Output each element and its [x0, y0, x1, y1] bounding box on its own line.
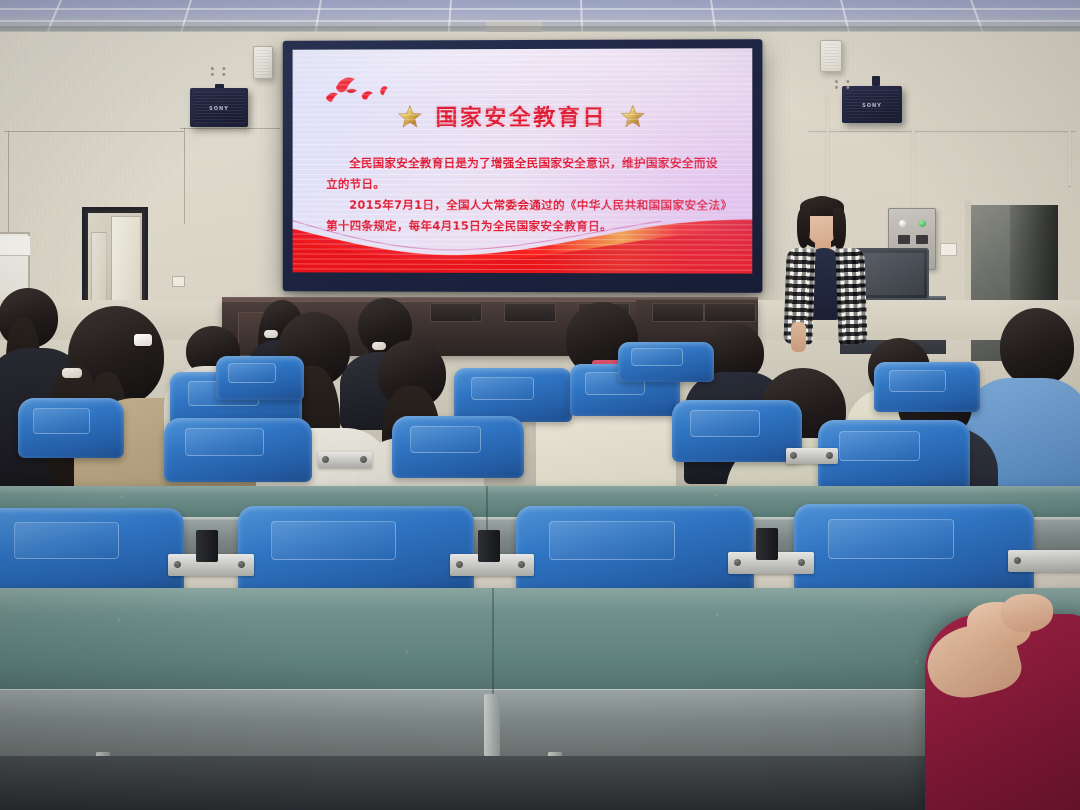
chair-bracket-b2 [786, 448, 838, 464]
chair-c4[interactable] [794, 504, 1034, 598]
chair-c2[interactable] [238, 506, 474, 598]
desk-leg-1 [484, 694, 500, 756]
chair-post-c3 [756, 528, 778, 560]
chair-b1[interactable] [18, 398, 124, 458]
chair-a6[interactable] [618, 342, 714, 382]
chair-b4[interactable] [672, 400, 802, 462]
chair-c3[interactable] [516, 506, 754, 598]
foreground-hand-right [1001, 594, 1053, 632]
chair-b3[interactable] [392, 416, 524, 478]
chair-bracket-c4 [1008, 550, 1080, 572]
chair-c1[interactable] [0, 508, 184, 596]
student-back-mid-hairtie [372, 342, 386, 350]
chair-a5[interactable] [216, 356, 304, 400]
student-tan-hairtie [62, 368, 82, 378]
student-back-left-hairtie [264, 330, 278, 338]
chair-b2[interactable] [164, 418, 312, 482]
foreground-person-maroon [905, 588, 1080, 810]
chair-post-c2 [478, 530, 500, 562]
hair-clip-icon [134, 334, 152, 346]
chair-bracket-b1 [318, 452, 372, 468]
chair-post-c1 [196, 530, 218, 562]
chair-a2[interactable] [454, 368, 572, 422]
chair-b5[interactable] [818, 420, 970, 490]
classroom-photo-scene: SONY SONY [0, 0, 1080, 810]
chair-a4[interactable] [874, 362, 980, 412]
student-blue-head [1000, 308, 1074, 386]
